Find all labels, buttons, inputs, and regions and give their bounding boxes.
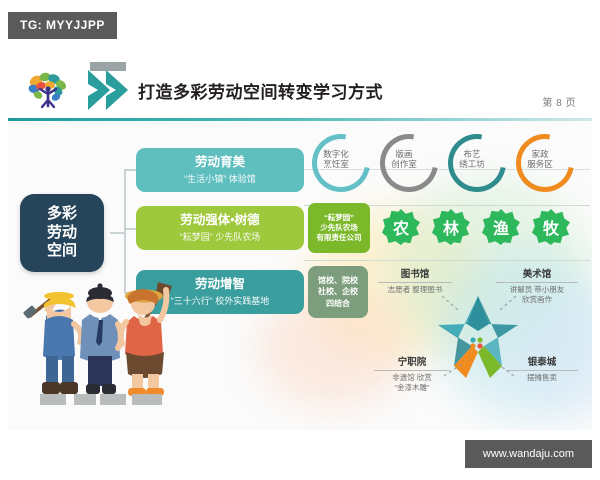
farm-tag-line3: 有限责任公司 [317, 233, 362, 243]
badge-label: 渔 [493, 215, 509, 239]
star-label-ningbo-college[interactable]: 宁职院 非遗馆 欣赏 “金漆木雕” [368, 354, 456, 393]
circle-label-line1: 家政 [516, 149, 564, 159]
label-divider [378, 282, 452, 283]
root-line-2: 劳动 [47, 224, 77, 243]
police-officer [80, 283, 121, 394]
circle-label-line2: 绣工坊 [448, 159, 496, 169]
star-label-art-museum[interactable]: 美术馆 讲解员 带小朋友 欣赏画作 [490, 266, 584, 305]
farmer [121, 282, 172, 396]
page-number: 第 8 页 [542, 94, 576, 109]
root-line-3: 空间 [47, 242, 77, 261]
star-label-yintai-city[interactable]: 银泰城 摆摊售卖 [500, 354, 584, 383]
branch-subtitle: “耘梦园” 少先队农场 [180, 230, 261, 243]
four-tag-line1: 馆校、院校 [318, 275, 358, 286]
mindmap-root-node[interactable]: 多彩 劳动 空间 [20, 194, 104, 272]
circle-label-fabric-embroidery: 布艺 绣工坊 [448, 149, 496, 169]
four-combine-tag[interactable]: 馆校、院校 社校、企校 四结合 [308, 266, 368, 318]
circle-label-line2: 服务区 [516, 159, 564, 169]
farm-company-tag[interactable]: “耘梦园” 少先队农场 有限责任公司 [308, 203, 370, 253]
star-label-title: 美术馆 [490, 266, 584, 280]
slide-canvas: 打造多彩劳动空间转变学习方式 第 8 页 多彩 劳动 空间 劳动育美 “生活小镇… [8, 58, 592, 430]
four-tag-line3: 四结合 [326, 298, 350, 309]
star-label-sub2: 欣赏画作 [490, 295, 584, 305]
badge-label: 牧 [543, 215, 559, 239]
badge-fishery[interactable]: 渔 [482, 208, 520, 246]
branch-title: 劳动育美 [195, 155, 245, 169]
circle-label-line2: 创作室 [380, 159, 428, 169]
four-tag-line2: 社校、企校 [318, 286, 358, 297]
label-divider [496, 282, 578, 283]
label-divider [506, 370, 578, 371]
circle-label-housekeeping-area: 家政 服务区 [516, 149, 564, 169]
circle-label-line1: 布艺 [448, 149, 496, 159]
star-diagram: 图书馆 志愿者 整理图书 美术馆 讲解员 带小朋友 欣赏画作 宁职院 非遗馆 欣… [366, 258, 592, 418]
star-label-sub2: “金漆木雕” [368, 383, 456, 393]
watermark-tag: TG: MYYJJPP [8, 12, 117, 39]
circle-label-printmaking-studio: 版画 创作室 [380, 149, 428, 169]
page-title: 打造多彩劳动空间转变学习方式 [138, 78, 383, 103]
branch-title: 劳动强体•树德 [180, 213, 259, 227]
circle-label-digital-kitchen: 数字化 烹饪室 [312, 149, 360, 169]
tree-logo [26, 70, 72, 110]
star-label-sub1: 摆摊售卖 [500, 373, 584, 383]
farm-tag-line2: 少先队农场 [320, 223, 358, 233]
star-label-sub1: 讲解员 带小朋友 [490, 285, 584, 295]
farm-tag-line1: “耘梦园” [324, 213, 354, 223]
header-divider [8, 118, 592, 121]
badge-label: 林 [443, 215, 459, 239]
star-label-title: 银泰城 [500, 354, 584, 368]
branch-node-labor-beauty[interactable]: 劳动育美 “生活小镇” 体验馆 [136, 148, 304, 192]
star-label-title: 图书馆 [372, 266, 458, 280]
circle-label-line1: 版画 [380, 149, 428, 159]
star-label-sub1: 非遗馆 欣赏 [368, 373, 456, 383]
star-label-title: 宁职院 [368, 354, 456, 368]
circle-label-line2: 烹饪室 [312, 159, 360, 169]
badge-husbandry[interactable]: 牧 [532, 208, 570, 246]
root-line-1: 多彩 [47, 205, 77, 224]
branch-subtitle: “生活小镇” 体验馆 [184, 172, 256, 185]
slide-header: 打造多彩劳动空间转变学习方式 第 8 页 [8, 58, 592, 120]
label-divider [374, 370, 450, 371]
star-label-library[interactable]: 图书馆 志愿者 整理图书 [372, 266, 458, 295]
construction-worker [23, 292, 81, 394]
star-label-sub1: 志愿者 整理图书 [372, 285, 458, 295]
badge-label: 农 [393, 215, 409, 239]
branch-title: 劳动增智 [195, 277, 245, 291]
chevron-right-icon [86, 68, 132, 112]
slide-screenshot: TG: MYYJJPP [0, 0, 600, 480]
circle-label-line1: 数字化 [312, 149, 360, 159]
badge-agriculture[interactable]: 农 [382, 208, 420, 246]
badge-forestry[interactable]: 林 [432, 208, 470, 246]
three-workers-illustration [12, 270, 188, 420]
branch-node-labor-strength[interactable]: 劳动强体•树德 “耘梦园” 少先队农场 [136, 206, 304, 250]
footer-url-watermark: www.wandaju.com [465, 440, 592, 468]
